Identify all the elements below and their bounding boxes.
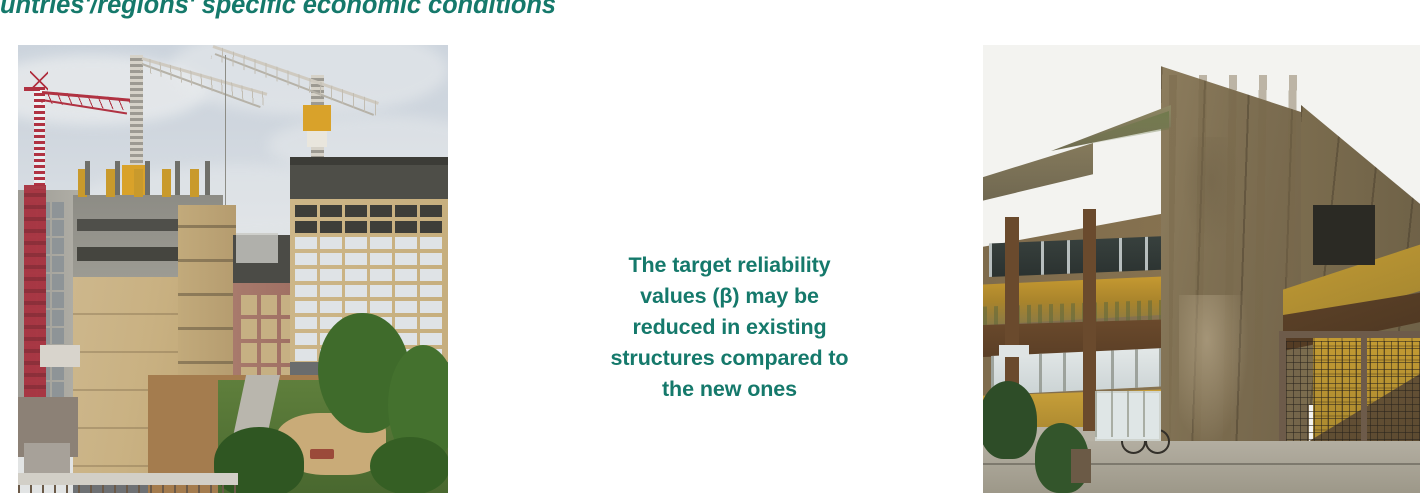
page-title: untries'/regions' specific economic cond… bbox=[0, 0, 960, 22]
foreground-slab bbox=[18, 473, 238, 485]
recessed-opening bbox=[1313, 205, 1375, 265]
crane-counterweight bbox=[303, 105, 331, 131]
planter-box bbox=[1071, 449, 1091, 483]
crane-apex bbox=[30, 71, 48, 91]
callout-line: the new ones bbox=[551, 374, 908, 405]
deteriorated-building-photo bbox=[983, 45, 1420, 493]
rebar-columns-grey bbox=[85, 161, 215, 195]
tree-foliage bbox=[370, 437, 448, 493]
efflorescence-patch bbox=[1183, 137, 1239, 247]
crane-hoist-line bbox=[225, 55, 226, 230]
site-container bbox=[40, 345, 80, 367]
ground-floor-window-mullions bbox=[1095, 391, 1157, 437]
callout-line: The target reliability bbox=[551, 250, 908, 281]
callout-text-block: The target reliability values (β) may be… bbox=[551, 250, 908, 405]
callout-line: structures compared to bbox=[551, 343, 908, 374]
construction-site-photo bbox=[18, 45, 448, 493]
distant-building bbox=[236, 233, 278, 263]
playground-equipment bbox=[310, 449, 334, 459]
callout-line: values (β) may be bbox=[551, 281, 908, 312]
callout-line: reduced in existing bbox=[551, 312, 908, 343]
roof-parapet bbox=[290, 157, 448, 165]
crane-operator-cab bbox=[307, 131, 327, 147]
shrub bbox=[983, 381, 1037, 459]
railing-top-rail bbox=[1279, 331, 1420, 338]
efflorescence-patch bbox=[1179, 295, 1249, 445]
vent-window bbox=[999, 345, 1029, 357]
foreground-fence bbox=[18, 485, 238, 493]
